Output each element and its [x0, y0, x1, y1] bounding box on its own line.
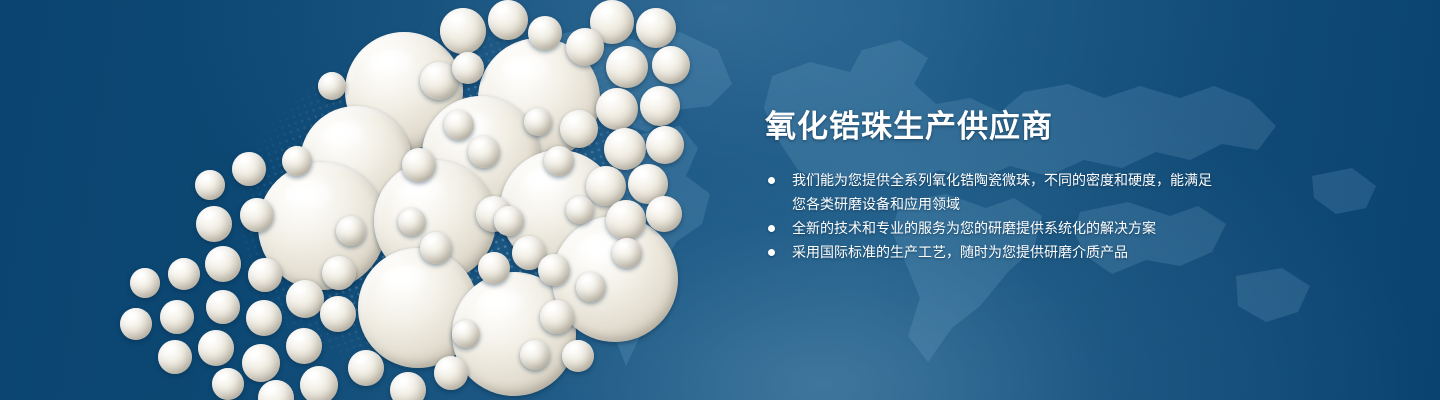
banner-bullet-list: 我们能为您提供全系列氧化锆陶瓷微珠，不同的密度和硬度，能满足您各类研磨设备和应用… — [765, 168, 1225, 264]
banner-headline: 氧化锆珠生产供应商 — [765, 108, 1225, 146]
zirconia-beads-banner: 氧化锆珠生产供应商 我们能为您提供全系列氧化锆陶瓷微珠，不同的密度和硬度，能满足… — [0, 0, 1440, 400]
banner-bullet-text: 全新的技术和专业的服务为您的研磨提供系统化的解决方案 — [792, 220, 1156, 236]
banner-bullet-item: 全新的技术和专业的服务为您的研磨提供系统化的解决方案 — [765, 216, 1225, 240]
bullet-dot-icon — [768, 177, 775, 184]
bullet-dot-icon — [768, 225, 775, 232]
banner-bullet-text: 采用国际标准的生产工艺，随时为您提供研磨介质产品 — [792, 244, 1128, 260]
banner-text-block: 氧化锆珠生产供应商 我们能为您提供全系列氧化锆陶瓷微珠，不同的密度和硬度，能满足… — [765, 108, 1225, 264]
banner-bullet-item: 采用国际标准的生产工艺，随时为您提供研磨介质产品 — [765, 240, 1225, 264]
banner-bullet-text: 我们能为您提供全系列氧化锆陶瓷微珠，不同的密度和硬度，能满足您各类研磨设备和应用… — [792, 172, 1212, 212]
bullet-dot-icon — [768, 249, 775, 256]
banner-bullet-item: 我们能为您提供全系列氧化锆陶瓷微珠，不同的密度和硬度，能满足您各类研磨设备和应用… — [765, 168, 1225, 216]
